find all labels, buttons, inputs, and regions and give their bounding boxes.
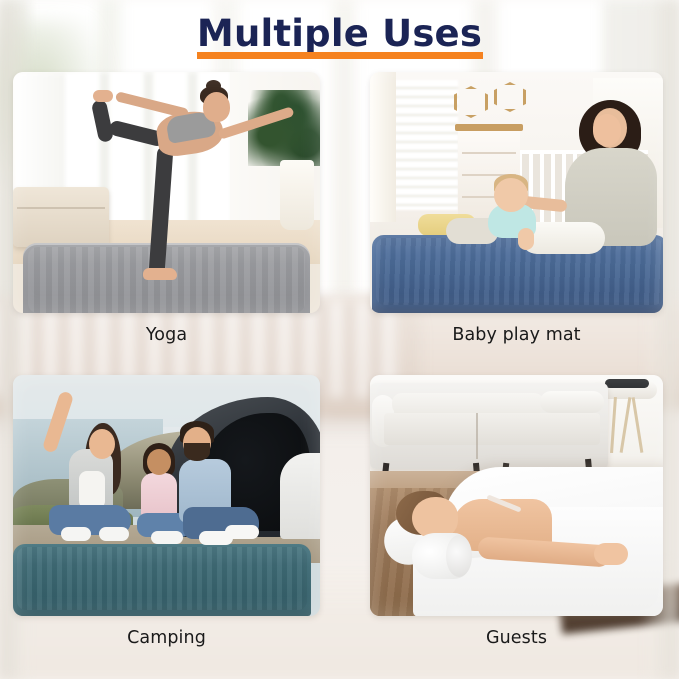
- man-beard: [184, 443, 210, 461]
- side-table-top: [605, 379, 649, 388]
- use-card-yoga[interactable]: Yoga: [13, 72, 320, 345]
- caption-guests: Guests: [370, 628, 663, 648]
- sofa: [370, 383, 608, 469]
- raised-foot: [93, 90, 113, 102]
- girl-shoe: [151, 531, 183, 544]
- yoga-person: [71, 78, 261, 288]
- baby-arm: [518, 228, 534, 250]
- mother-face: [593, 114, 621, 146]
- hair-bun: [206, 80, 221, 92]
- woman-head: [89, 429, 115, 459]
- man-shoe: [225, 525, 259, 539]
- woman-shoe: [99, 527, 129, 541]
- uses-grid: Yoga: [0, 72, 679, 672]
- planter-pot: [280, 160, 314, 230]
- photo-guests: [370, 375, 663, 616]
- sofa-seat: [384, 413, 600, 445]
- caption-baby-play-mat: Baby play mat: [370, 325, 663, 345]
- head: [203, 92, 230, 122]
- caption-yoga: Yoga: [13, 325, 320, 345]
- woman-top: [79, 471, 105, 509]
- sofa-bolster: [540, 391, 604, 413]
- hexagon-shelf-icon: [494, 82, 526, 112]
- dresser-drawer-line: [462, 152, 516, 154]
- photo-yoga: [13, 72, 320, 313]
- photo-baby-play-mat: [370, 72, 663, 313]
- woman-shoe: [61, 527, 91, 541]
- play-mat: [372, 235, 663, 313]
- sofa-seam: [476, 413, 478, 459]
- raised-shin: [91, 99, 114, 143]
- sofa-back-cushion: [392, 393, 544, 415]
- standing-foot: [143, 268, 177, 280]
- photo-camping: [13, 375, 320, 616]
- camping-mat: [13, 544, 311, 616]
- title-underline: [197, 52, 483, 59]
- nursery-curtain: [370, 72, 396, 222]
- hexagon-shelf-icon: [454, 86, 488, 118]
- page-title-area: Multiple Uses: [0, 12, 679, 61]
- tent-side-panel: [280, 453, 320, 539]
- baby-head: [494, 178, 528, 212]
- use-card-camping[interactable]: Camping: [13, 375, 320, 648]
- standing-leg: [148, 146, 173, 277]
- sleeping-woman-hand: [594, 543, 628, 565]
- caption-camping: Camping: [13, 628, 320, 648]
- use-card-baby-play-mat[interactable]: Baby play mat: [370, 72, 663, 345]
- girl-head: [147, 449, 171, 475]
- bolster-pillow-end: [446, 535, 472, 577]
- use-card-guests[interactable]: Guests: [370, 375, 663, 648]
